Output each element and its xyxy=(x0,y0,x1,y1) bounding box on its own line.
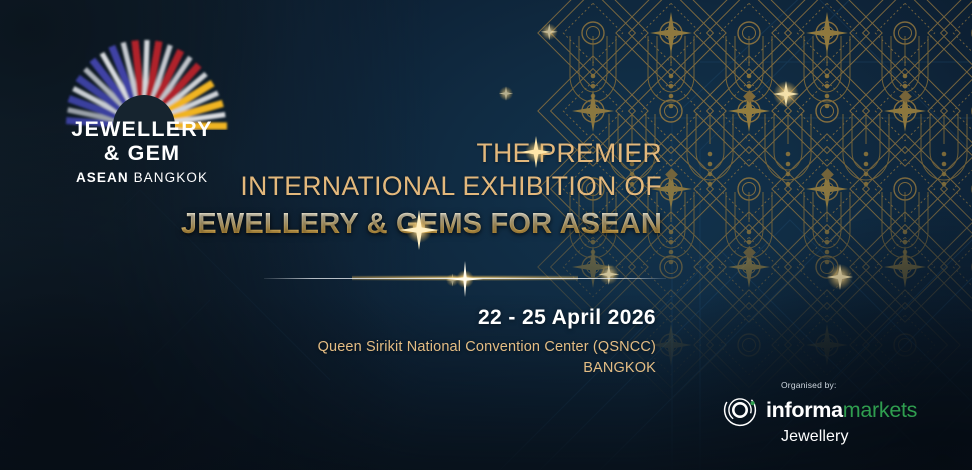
organised-by-label: Organised by: xyxy=(781,380,938,390)
logo-wordmark: JEWELLERY & GEM ASEAN BANGKOK xyxy=(44,118,240,188)
ampersand-sparkle-icon xyxy=(396,207,442,253)
event-banner: JEWELLERY & GEM ASEAN BANGKOK THE PREMIE… xyxy=(0,0,972,470)
event-date: 22 - 25 April 2026 xyxy=(318,305,656,331)
organiser-block[interactable]: Organised by: informamarkets Jewellery xyxy=(723,380,938,446)
logo-line-2: & GEM xyxy=(44,141,240,166)
headline-line-2: INTERNATIONAL EXHIBITION OF xyxy=(240,171,662,202)
date-venue-block: 22 - 25 April 2026 Queen Sirikit Nationa… xyxy=(318,305,656,379)
logo-fan-icon xyxy=(44,22,244,130)
divider-star-icon xyxy=(444,258,486,300)
informa-division: Jewellery xyxy=(781,428,938,446)
logo-line-1: JEWELLERY xyxy=(44,118,240,141)
informa-circle-icon xyxy=(723,393,757,427)
headline-line-1: THE PREMIER xyxy=(476,138,662,169)
headline-sparkle-icon xyxy=(516,132,556,172)
logo-city: BANGKOK xyxy=(134,170,208,185)
decorative-divider xyxy=(264,277,666,280)
event-logo[interactable]: JEWELLERY & GEM ASEAN BANGKOK xyxy=(44,22,244,172)
informa-text: informa xyxy=(766,398,843,422)
logo-region: ASEAN xyxy=(76,170,129,185)
informa-markets-wordmark: informamarkets xyxy=(766,399,917,422)
event-venue: Queen Sirikit National Convention Center… xyxy=(318,337,656,358)
markets-text: markets xyxy=(843,398,917,422)
event-city: BANGKOK xyxy=(318,358,656,379)
logo-line-3: ASEAN BANGKOK xyxy=(44,168,240,188)
